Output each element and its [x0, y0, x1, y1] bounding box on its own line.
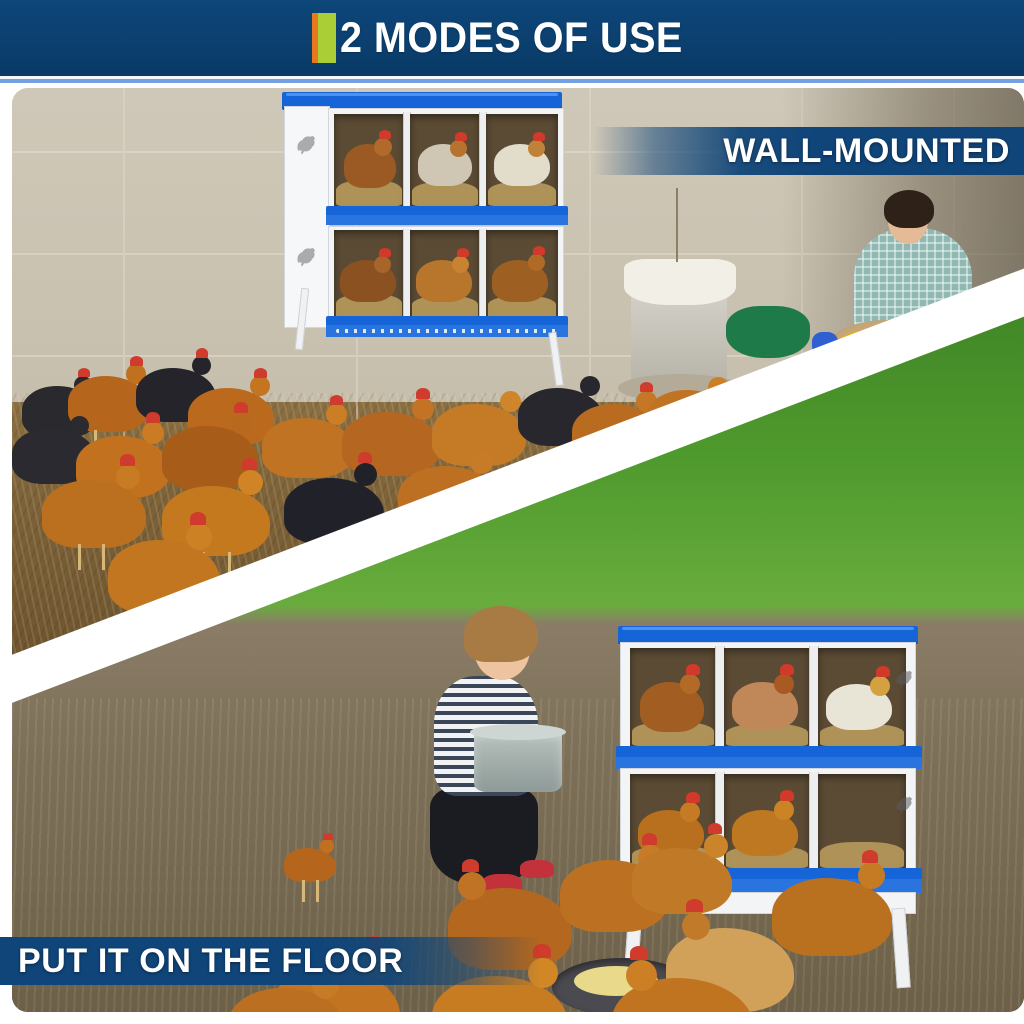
nest-compartment [724, 774, 810, 868]
nest-compartment [486, 230, 558, 318]
accent-stripes [312, 13, 336, 63]
nest-compartment [818, 648, 906, 746]
photo-collage [12, 88, 1024, 1012]
nest-compartment [724, 648, 810, 746]
label-put-on-floor: PUT IT ON THE FLOOR [0, 937, 540, 985]
nesting-box-wall-mounted [274, 88, 574, 348]
label-wall-mounted: WALL-MOUNTED [594, 127, 1024, 175]
nest-compartment [630, 648, 716, 746]
chicken-silhouette-icon [892, 790, 918, 816]
nest-compartment [410, 230, 480, 318]
header-banner: 2 MODES OF USE [0, 0, 1024, 76]
header-divider-blue [0, 79, 1024, 83]
chicken-silhouette-icon [292, 240, 322, 270]
accent-bar-green [318, 13, 336, 63]
chicken-silhouette-icon [292, 128, 322, 158]
product-infographic: 2 MODES OF USE [0, 0, 1024, 1024]
header-content: 2 MODES OF USE [312, 13, 713, 63]
chicken-silhouette-icon [892, 664, 918, 690]
nest-compartment [334, 114, 404, 206]
label-put-on-floor-text: PUT IT ON THE FLOOR [18, 937, 403, 985]
page-title: 2 MODES OF USE [340, 13, 683, 63]
nest-compartment [486, 114, 558, 206]
green-tub [726, 306, 810, 358]
nest-compartment [334, 230, 404, 318]
nest-compartment [410, 114, 480, 206]
label-wall-mounted-text: WALL-MOUNTED [723, 127, 1010, 175]
